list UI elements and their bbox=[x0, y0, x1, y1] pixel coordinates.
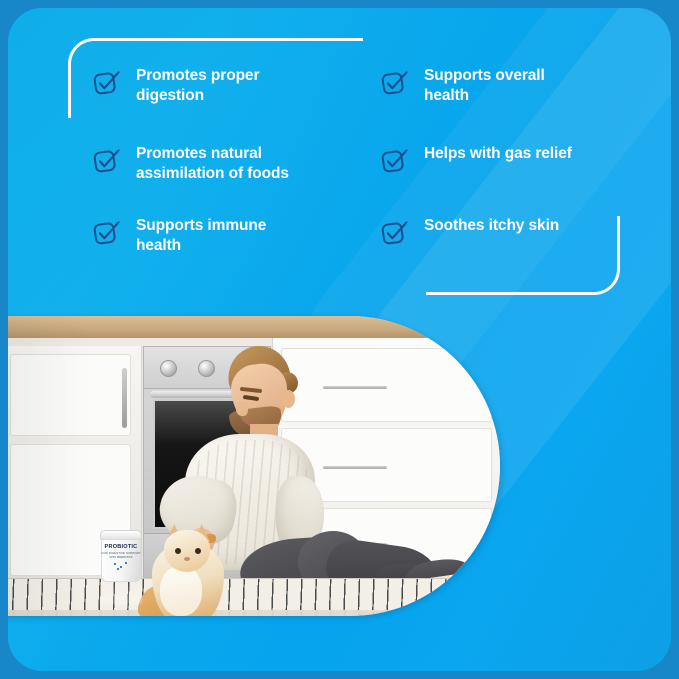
check-badge-icon bbox=[92, 217, 122, 247]
jar-subtitle: FOR DIGESTIVE SUPPORT bbox=[100, 551, 142, 555]
cat-chest bbox=[160, 566, 202, 616]
benefit-label: Promotes proper digestion bbox=[136, 66, 259, 106]
cat-eye-right bbox=[195, 548, 201, 554]
benefit-label: Supports immune health bbox=[136, 216, 266, 256]
benefit-label: Supports overall health bbox=[424, 66, 545, 106]
benefit-item: Helps with gas relief bbox=[380, 144, 640, 175]
benefit-item: Promotes natural assimilation of foods bbox=[92, 144, 352, 184]
benefit-label: Helps with gas relief bbox=[424, 144, 572, 164]
check-badge-icon bbox=[380, 217, 410, 247]
kitchen-floor-mat bbox=[8, 578, 500, 610]
floor-reflection bbox=[8, 610, 500, 616]
blue-panel: Promotes proper digestion Promotes natur… bbox=[8, 8, 671, 671]
product-benefits-graphic: Promotes proper digestion Promotes natur… bbox=[0, 0, 679, 679]
benefit-item: Promotes proper digestion bbox=[92, 66, 352, 106]
jar-subtitle-secondary: WITH PREBIOTICS bbox=[100, 556, 142, 559]
jar-title: PROBIOTIC bbox=[100, 544, 142, 550]
benefit-item: Soothes itchy skin bbox=[380, 216, 640, 247]
check-badge-icon bbox=[380, 67, 410, 97]
benefits-list: Promotes proper digestion Promotes natur… bbox=[8, 8, 671, 308]
cat-eye-left bbox=[175, 548, 181, 554]
man-figure bbox=[8, 316, 500, 616]
benefit-label: Promotes natural assimilation of foods bbox=[136, 144, 289, 184]
lifestyle-photo bbox=[8, 316, 500, 616]
check-badge-icon bbox=[380, 145, 410, 175]
cat-head bbox=[164, 530, 210, 572]
benefit-item: Supports immune health bbox=[92, 216, 352, 256]
man-ear bbox=[282, 390, 295, 408]
benefit-label: Soothes itchy skin bbox=[424, 216, 559, 236]
check-badge-icon bbox=[92, 67, 122, 97]
benefit-item: Supports overall health bbox=[380, 66, 640, 106]
jar-reflection bbox=[100, 582, 142, 604]
check-badge-icon bbox=[92, 145, 122, 175]
cat-nose bbox=[184, 557, 190, 561]
product-jar: PROBIOTIC FOR DIGESTIVE SUPPORT WITH PRE… bbox=[100, 530, 142, 582]
jar-graphic-dots bbox=[112, 562, 130, 570]
